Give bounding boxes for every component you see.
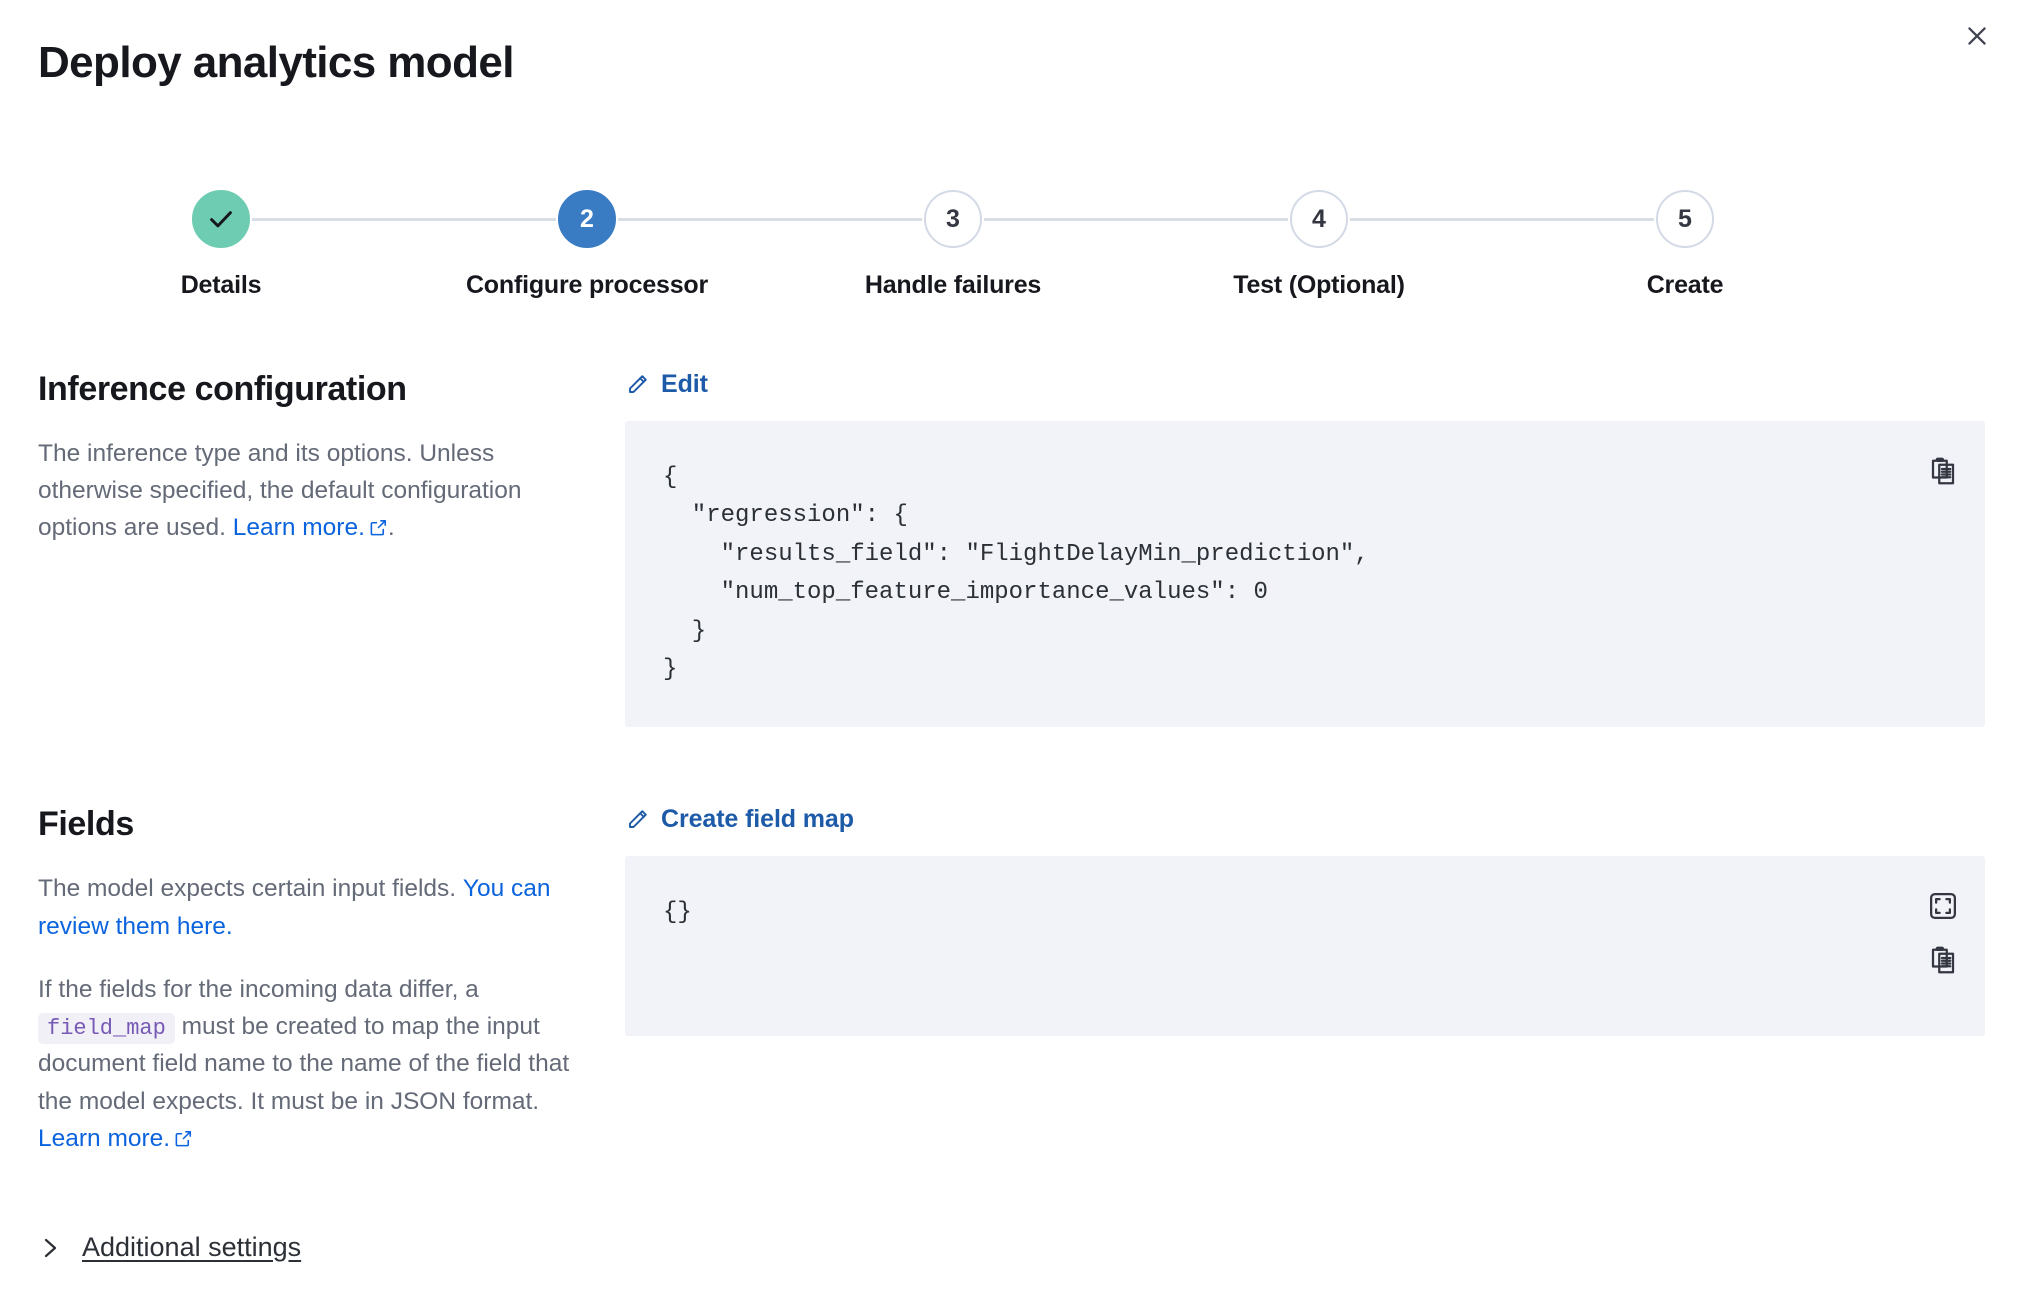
step-details[interactable]: Details	[38, 190, 404, 310]
field-map-code-actions	[1927, 890, 1959, 976]
inference-configuration-description-column: Inference configuration The inference ty…	[0, 370, 625, 547]
flyout-body: Inference configuration The inference ty…	[0, 370, 2017, 1157]
inference-configuration-description-tail: .	[388, 514, 395, 541]
inference-configuration-code: { "regression": { "results_field": "Flig…	[663, 459, 1895, 689]
expand-field-map-button[interactable]	[1927, 890, 1959, 922]
step-label-2[interactable]: Configure processor	[466, 271, 708, 300]
edit-inference-config-button[interactable]: Edit	[625, 370, 708, 399]
step-marker-3[interactable]: 3	[924, 190, 982, 248]
fields-description-1: The model expects certain input fields. …	[38, 870, 585, 944]
step-connector	[984, 218, 1288, 221]
step-create[interactable]: 5 Create	[1502, 190, 1868, 310]
field-map-code: {}	[663, 894, 1895, 932]
pencil-icon	[625, 373, 649, 397]
inference-configuration-description: The inference type and its options. Unle…	[38, 435, 585, 547]
create-field-map-button[interactable]: Create field map	[625, 805, 854, 834]
step-label-1[interactable]: Details	[181, 271, 262, 300]
step-marker-5[interactable]: 5	[1656, 190, 1714, 248]
step-indicator: Details 2 Configure processor 3 Handle f…	[38, 190, 1868, 310]
learn-more-label: Learn more.	[233, 514, 365, 541]
additional-settings-label: Additional settings	[82, 1232, 301, 1263]
additional-settings-accordion[interactable]: Additional settings	[38, 1232, 301, 1263]
step-test-optional[interactable]: 4 Test (Optional)	[1136, 190, 1502, 310]
step-label-3[interactable]: Handle failures	[865, 271, 1041, 300]
deploy-model-flyout: Deploy analytics model Details 2 Configu…	[0, 0, 2017, 1311]
check-icon	[206, 204, 236, 234]
step-connector	[618, 218, 922, 221]
inference-configuration-title: Inference configuration	[38, 370, 585, 409]
step-label-4[interactable]: Test (Optional)	[1233, 271, 1405, 300]
field-map-code-block: {}	[625, 856, 1985, 1036]
fields-title: Fields	[38, 805, 585, 844]
step-connector	[1350, 218, 1654, 221]
step-connector	[252, 218, 556, 221]
inference-configuration-learn-more-link[interactable]: Learn more.	[233, 514, 388, 541]
section-fields: Fields The model expects certain input f…	[0, 805, 2017, 1157]
external-link-icon	[174, 1129, 193, 1148]
step-handle-failures[interactable]: 3 Handle failures	[770, 190, 1136, 310]
inference-configuration-editor-column: Edit { "regression": { "results_field": …	[625, 370, 2017, 727]
inference-configuration-code-block: { "regression": { "results_field": "Flig…	[625, 421, 1985, 727]
copy-icon	[1928, 945, 1958, 975]
external-link-icon	[369, 518, 388, 537]
page-title: Deploy analytics model	[38, 38, 514, 89]
fields-editor-column: Create field map {}	[625, 805, 2017, 1036]
field-map-learn-more-link[interactable]: Learn more.	[38, 1125, 193, 1152]
close-button[interactable]	[1955, 14, 1999, 58]
step-marker-1[interactable]	[192, 190, 250, 248]
chevron-right-icon	[38, 1236, 62, 1260]
learn-more-label: Learn more.	[38, 1125, 170, 1152]
fields-description-column: Fields The model expects certain input f…	[0, 805, 625, 1157]
create-field-map-label: Create field map	[661, 805, 854, 834]
copy-field-map-button[interactable]	[1927, 944, 1959, 976]
section-spacer	[0, 727, 2017, 805]
inference-code-actions	[1927, 455, 1959, 487]
edit-label: Edit	[661, 370, 708, 399]
step-marker-2[interactable]: 2	[558, 190, 616, 248]
field-map-code-token: field_map	[38, 1013, 175, 1044]
copy-inference-config-button[interactable]	[1927, 455, 1959, 487]
fields-description-2-lead: If the fields for the incoming data diff…	[38, 976, 479, 1003]
step-configure-processor[interactable]: 2 Configure processor	[404, 190, 770, 310]
expand-icon	[1928, 891, 1958, 921]
fields-description-1-text: The model expects certain input fields.	[38, 875, 463, 902]
section-inference-configuration: Inference configuration The inference ty…	[0, 370, 2017, 727]
fields-description-2: If the fields for the incoming data diff…	[38, 971, 585, 1157]
close-icon	[1964, 23, 1990, 49]
step-marker-4[interactable]: 4	[1290, 190, 1348, 248]
step-label-5[interactable]: Create	[1647, 271, 1724, 300]
pencil-icon	[625, 808, 649, 832]
copy-icon	[1928, 456, 1958, 486]
